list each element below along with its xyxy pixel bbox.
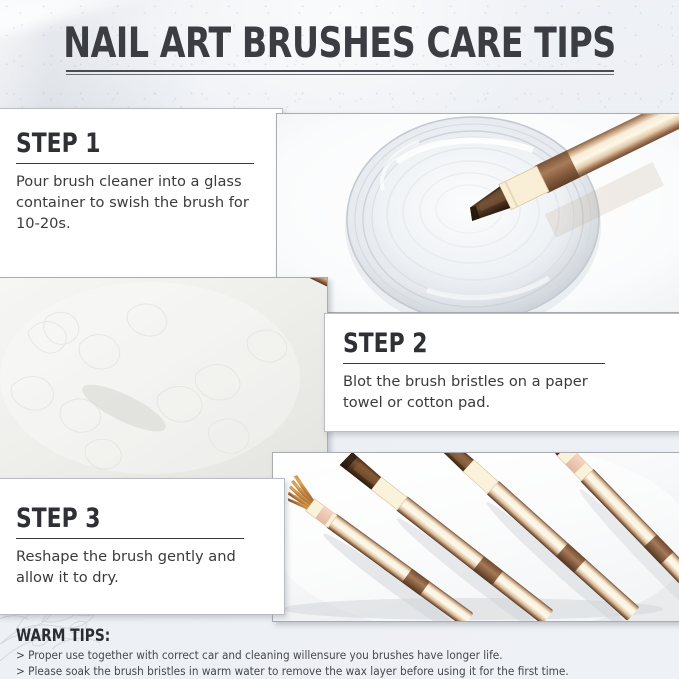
step-3-heading: STEP 3 — [16, 505, 221, 533]
step-1-photo — [276, 113, 679, 313]
step-2-heading: STEP 2 — [343, 330, 579, 358]
step-1-rule — [16, 163, 254, 164]
step-1: STEP 1 Pour brush cleaner into a glass c… — [16, 130, 256, 235]
step-1-heading: STEP 1 — [16, 130, 232, 158]
warm-tips-section: WARM TIPS: > Proper use together with co… — [16, 627, 664, 679]
step-2-rule — [343, 363, 605, 364]
warm-tip-line-1: > Proper use together with correct car a… — [16, 648, 625, 664]
page-title-block: NAIL ART BRUSHES CARE TIPS — [0, 22, 679, 75]
title-underline — [66, 70, 614, 75]
step-2: STEP 2 Blot the brush bristles on a pape… — [343, 330, 605, 414]
title-rule-thick — [66, 70, 614, 72]
step-1-body: Pour brush cleaner into a glass containe… — [16, 172, 256, 234]
step-3-photo — [272, 452, 679, 622]
step-3-rule — [16, 538, 244, 539]
title-rule-thin — [66, 74, 614, 75]
warm-tips-heading: WARM TIPS: — [16, 627, 599, 646]
page-title: NAIL ART BRUSHES CARE TIPS — [41, 22, 639, 64]
step-3: STEP 3 Reshape the brush gently and allo… — [16, 505, 244, 589]
warm-tip-line-2: > Please soak the brush bristles in warm… — [16, 664, 625, 679]
step-3-body: Reshape the brush gently and allow it to… — [16, 547, 244, 588]
infographic-page: NAIL ART BRUSHES CARE TIPS — [0, 0, 679, 679]
step-2-body: Blot the brush bristles on a paper towel… — [343, 372, 605, 413]
